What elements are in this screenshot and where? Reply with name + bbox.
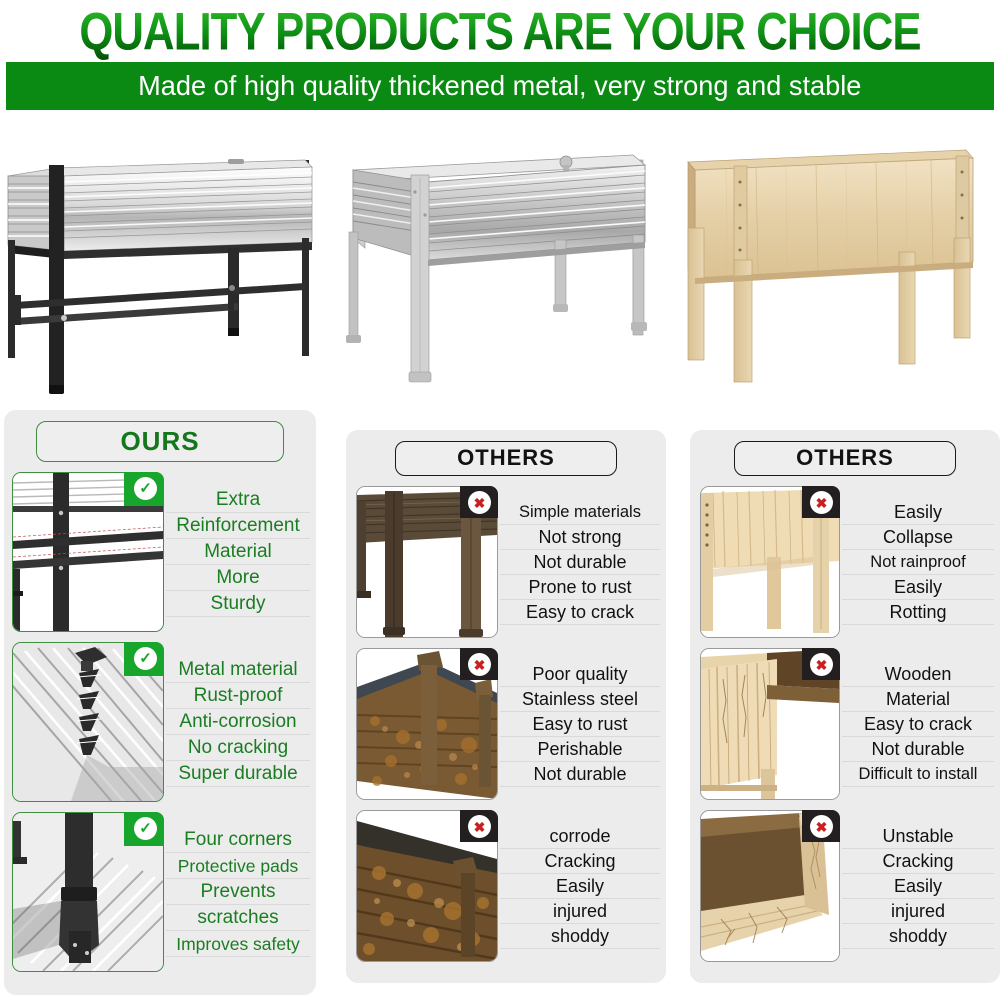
rusted-metal-illustration [357,649,497,799]
feature-row: Perishable [500,737,660,762]
others-left-feature-list-2: Poor quality Stainless steel Easy to rus… [498,648,660,800]
ours-blocks: ✓ Extra Reinforcement Material More Stur… [4,472,316,982]
feature-row: Not durable [842,737,994,762]
weathered-wood-illustration [357,487,497,637]
feature-row: Not durable [500,550,660,575]
corner-pad-illustration [13,813,163,971]
ours-label: OURS [36,421,284,462]
others-right-thumb-wrap-2: ✖ [700,648,840,800]
split-wood-illustration [701,649,839,799]
feature-row: Poor quality [500,662,660,687]
others-left-block-3: ✖ corrode Cracking Easily injured shoddy [346,810,666,962]
corrugated-panel-illustration [13,643,163,801]
product-image-silver-bed [333,120,666,405]
others-right-thumb-wrap-3: ✖ [700,810,840,962]
feature-row: Material [166,539,310,565]
corner-protective-pad-photo [12,812,164,972]
others-left-block-1: ✖ Simple materials Not strong Not durabl… [346,486,666,638]
feature-row: No cracking [166,735,310,761]
feature-row: Easily [842,500,994,525]
feature-row: shoddy [842,924,994,949]
others-left-feature-list-3: corrode Cracking Easily injured shoddy [498,810,660,962]
others-right-feature-list-2: Wooden Material Easy to crack Not durabl… [840,648,994,800]
ours-thumb-wrap-2: ✓ [12,642,164,802]
ours-block-3: ✓ Four corners Protective pads Prevents … [4,812,316,972]
ours-block-2: ✓ Metal material Rust-proof Anti-corrosi… [4,642,316,802]
dark-weathered-wood-frame-photo [356,486,498,638]
product-image-row [0,120,1000,405]
subtitle-banner: Made of high quality thickened metal, ve… [6,62,994,110]
rusted-metal-bed-photo [356,648,498,800]
feature-row: Difficult to install [842,762,994,787]
feature-row: Prevents [166,879,310,905]
others-left-label: OTHERS [395,441,617,476]
panel-others-right: OTHERS [690,430,1000,983]
product-image-wooden-bed [666,120,999,405]
corroded-metal-illustration [357,811,497,961]
product-image-black-frame-bed [0,120,333,405]
others-left-thumb-wrap-1: ✖ [356,486,498,638]
reinforcement-shelf-photo [12,472,164,632]
feature-row: corrode [500,824,660,849]
reinforcement-shelf-illustration [13,473,163,631]
feature-row: injured [842,899,994,924]
others-left-feature-list-1: Simple materials Not strong Not durable … [498,486,660,638]
feature-row: Easily [500,874,660,899]
feature-row: Cracking [842,849,994,874]
others-right-feature-list-1: Easily Collapse Not rainproof Easily Rot… [840,486,994,638]
others-left-header: OTHERS [346,430,666,486]
others-right-feature-list-3: Unstable Cracking Easily injured shoddy [840,810,994,962]
panel-others-left: OTHERS [346,430,666,983]
feature-row: injured [500,899,660,924]
split-wooden-planter-photo [700,648,840,800]
feature-row: Metal material [166,657,310,683]
others-right-block-2: ✖ Wooden Material Easy to crack Not dura… [690,648,1000,800]
ours-thumb-wrap-1: ✓ [12,472,164,632]
feature-row: Not durable [500,762,660,787]
corroded-metal-bed-photo [356,810,498,962]
page-header: QUALITY PRODUCTS ARE YOUR CHOICE Made of… [0,0,1000,112]
wooden-bed-illustration [666,120,999,405]
feature-row: Easily [842,575,994,600]
ours-thumb-wrap-3: ✓ [12,812,164,972]
others-right-thumb-wrap-1: ✖ [700,486,840,638]
feature-row: Easily [842,874,994,899]
feature-row: Super durable [166,761,310,787]
comparison-section: OURS [0,405,1000,1000]
feature-row: Four corners [166,827,310,853]
ours-feature-list-1: Extra Reinforcement Material More Sturdy [164,472,310,632]
cracked-light-wood-panel-photo [700,486,840,638]
feature-row: Improves safety [166,931,310,957]
black-frame-bed-illustration [0,120,333,405]
panel-ours: OURS [4,410,316,995]
cracked-wooden-corner-photo [700,810,840,962]
cracked-wood-panel-illustration [701,487,839,637]
feature-row: Protective pads [166,853,310,879]
feature-row: More [166,565,310,591]
feature-row: Extra [166,487,310,513]
others-left-blocks: ✖ Simple materials Not strong Not durabl… [346,486,666,972]
feature-row: Collapse [842,525,994,550]
feature-row: Stainless steel [500,687,660,712]
page-title: QUALITY PRODUCTS ARE YOUR CHOICE [35,0,965,65]
feature-row: Wooden [842,662,994,687]
ours-block-1: ✓ Extra Reinforcement Material More Stur… [4,472,316,632]
feature-row: Rotting [842,600,994,625]
feature-row: Easy to crack [842,712,994,737]
others-right-block-3: ✖ Unstable Cracking Easily injured shodd… [690,810,1000,962]
cracked-corner-illustration [701,811,839,961]
subtitle-text: Made of high quality thickened metal, ve… [138,70,861,102]
ours-feature-list-2: Metal material Rust-proof Anti-corrosion… [164,642,310,802]
feature-row: Material [842,687,994,712]
others-left-thumb-wrap-2: ✖ [356,648,498,800]
metal-corrugated-panel-photo [12,642,164,802]
feature-row: scratches [166,905,310,931]
others-right-block-1: ✖ Easily Collapse Not rainproof Easily R… [690,486,1000,638]
feature-row: Unstable [842,824,994,849]
feature-row: Reinforcement [166,513,310,539]
ours-feature-list-3: Four corners Protective pads Prevents sc… [164,812,310,972]
feature-row: Not rainproof [842,550,994,575]
others-right-blocks: ✖ Easily Collapse Not rainproof Easily R… [690,486,1000,972]
feature-row: shoddy [500,924,660,949]
feature-row: Cracking [500,849,660,874]
feature-row: Easy to crack [500,600,660,625]
panel-ours-header: OURS [4,410,316,472]
feature-row: Easy to rust [500,712,660,737]
others-left-thumb-wrap-3: ✖ [356,810,498,962]
feature-row: Simple materials [500,500,660,525]
others-right-header: OTHERS [690,430,1000,486]
silver-bed-illustration [333,120,666,405]
others-left-block-2: ✖ Poor quality Stainless steel Easy to r… [346,648,666,800]
feature-row: Not strong [500,525,660,550]
feature-row: Rust-proof [166,683,310,709]
feature-row: Prone to rust [500,575,660,600]
others-right-label: OTHERS [734,441,956,476]
feature-row: Sturdy [166,591,310,617]
feature-row: Anti-corrosion [166,709,310,735]
